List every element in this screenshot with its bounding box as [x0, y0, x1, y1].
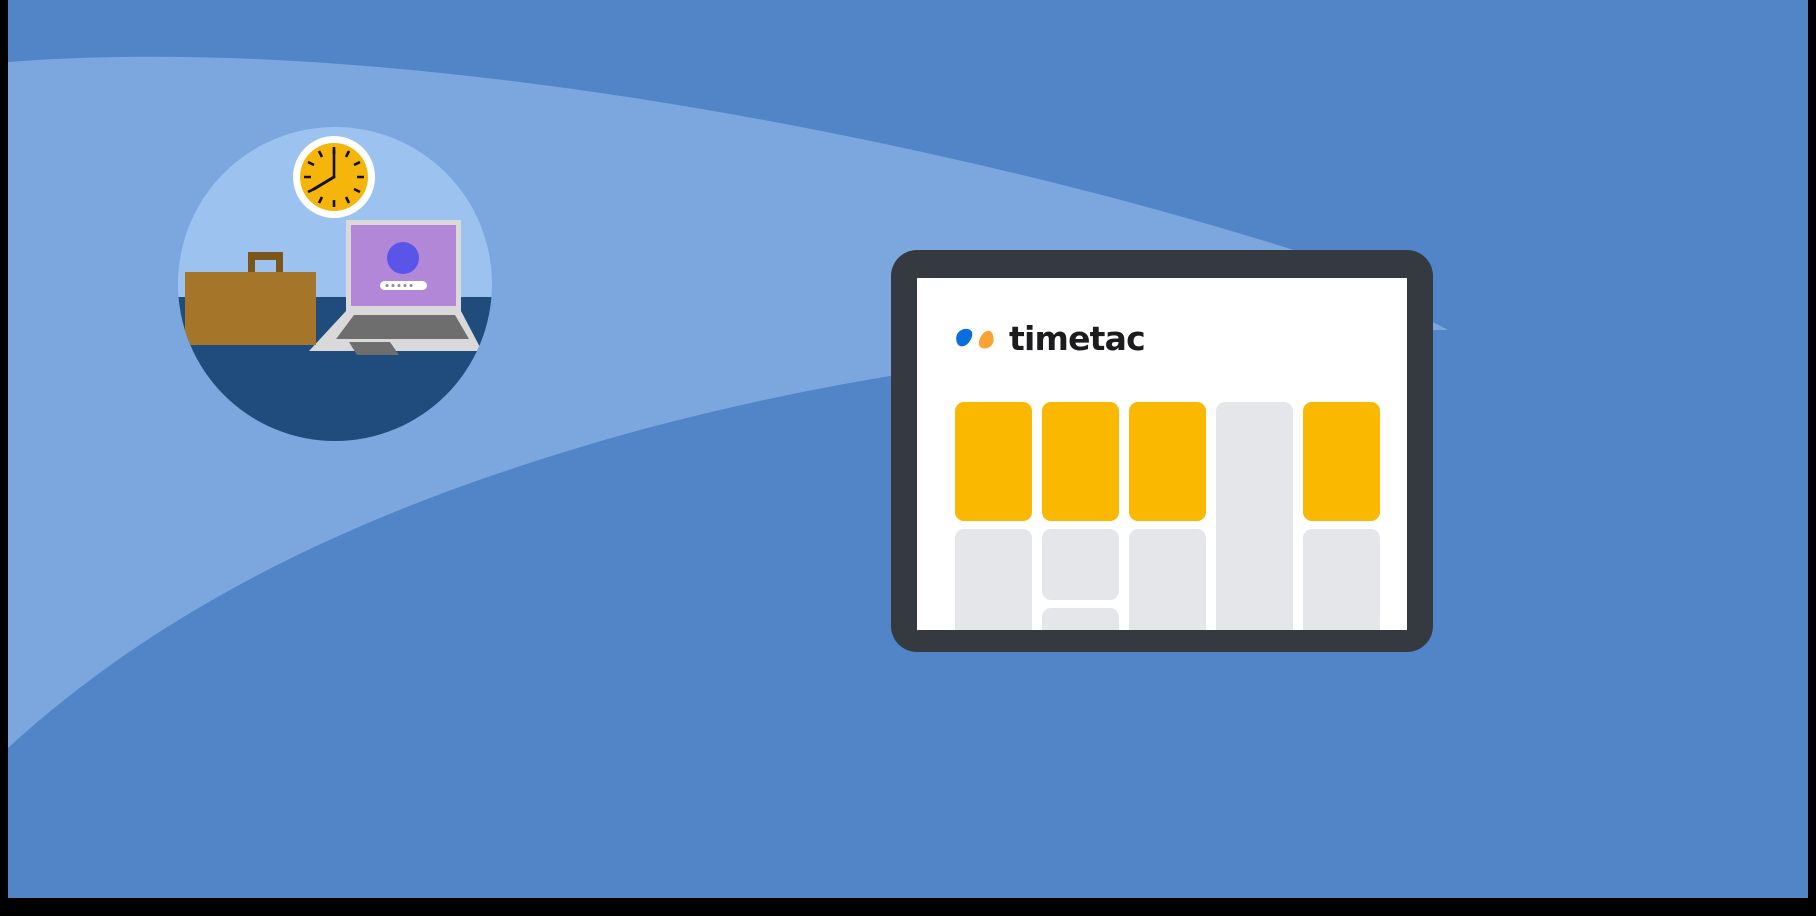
timetac-logo-mark-icon [953, 326, 997, 352]
laptop-avatar-icon [387, 242, 419, 274]
timetac-wordmark: timetac [1009, 322, 1145, 355]
schedule-block-gray[interactable] [955, 529, 1032, 630]
work-time-illustration [178, 127, 492, 441]
grid-column-4 [1216, 402, 1293, 630]
briefcase-body [185, 272, 316, 345]
schedule-block-gray[interactable] [1042, 529, 1119, 600]
tablet-device: timetac [891, 250, 1433, 652]
briefcase-handle-hole [255, 260, 276, 274]
schedule-block-gray[interactable] [1303, 529, 1380, 630]
laptop-keyboard [336, 315, 469, 339]
logo-blue-drop-icon [956, 328, 972, 345]
illustration-scene [178, 127, 492, 441]
grid-column-1 [955, 402, 1032, 630]
logo-orange-drop-icon [979, 330, 994, 348]
timetac-logo[interactable]: timetac [953, 322, 1145, 355]
schedule-block-yellow[interactable] [1129, 402, 1206, 521]
wall-clock [293, 136, 375, 218]
schedule-block-yellow[interactable] [1303, 402, 1380, 521]
grid-column-3 [1129, 402, 1206, 630]
schedule-block-yellow[interactable] [955, 402, 1032, 521]
schedule-block-gray[interactable] [1129, 529, 1206, 630]
schedule-block-gray[interactable] [1042, 608, 1119, 630]
schedule-block-yellow[interactable] [1042, 402, 1119, 521]
screenshot-canvas: timetac [0, 0, 1816, 916]
tablet-screen: timetac [917, 278, 1407, 630]
grid-column-5 [1303, 402, 1380, 630]
schedule-block-grid [955, 402, 1380, 630]
grid-column-2 [1042, 402, 1119, 630]
schedule-block-gray[interactable] [1216, 402, 1293, 630]
